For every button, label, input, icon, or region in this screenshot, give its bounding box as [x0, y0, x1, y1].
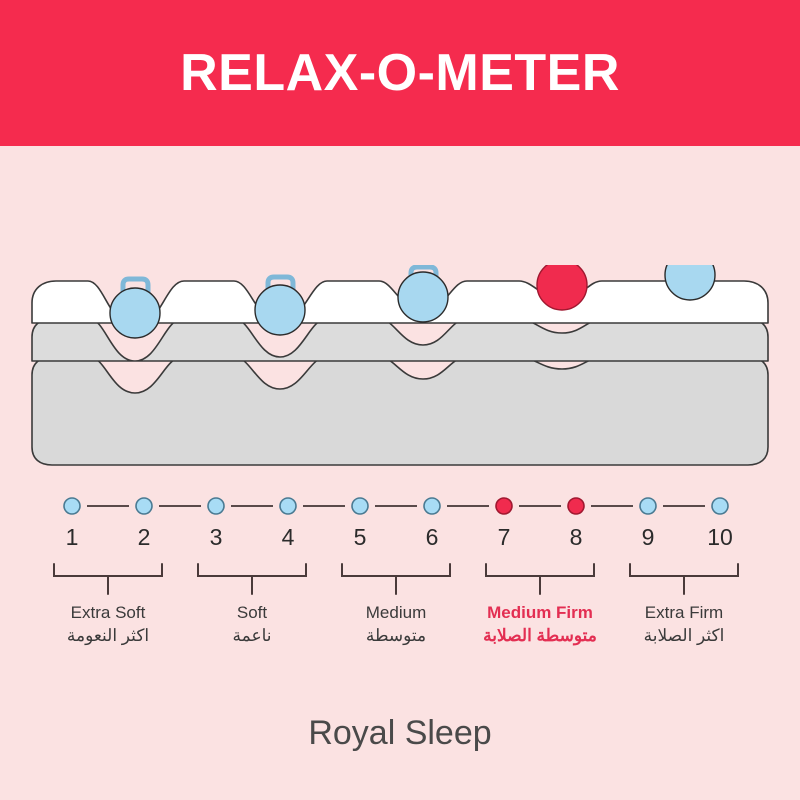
scale-dot-1[interactable] — [64, 498, 80, 514]
mattress-core-layer — [32, 357, 768, 465]
kettlebell-weight-4 — [537, 265, 587, 310]
kettlebell-body-4 — [537, 265, 587, 310]
scale-dot-7[interactable] — [496, 498, 512, 514]
category-extra-firm[interactable]: Extra Firmاكثر الصلابة — [594, 602, 774, 648]
scale-dot-8[interactable] — [568, 498, 584, 514]
category-brackets — [54, 564, 738, 594]
scale-dot-2[interactable] — [136, 498, 152, 514]
firmness-scale: 12345678910 Extra Softاكثر النعومةSoftنا… — [0, 480, 800, 680]
scale-number-10: 10 — [700, 524, 740, 551]
kettlebell-body-1 — [110, 288, 160, 338]
page-title: RELAX-O-METER — [180, 47, 620, 99]
kettlebell-weight-1 — [110, 279, 160, 338]
scale-dot-10[interactable] — [712, 498, 728, 514]
scale-dot-9[interactable] — [640, 498, 656, 514]
scale-dot-4[interactable] — [280, 498, 296, 514]
scale-dot-5[interactable] — [352, 498, 368, 514]
relax-o-meter-infographic: RELAX-O-METER — [0, 0, 800, 800]
scale-number-2: 2 — [124, 524, 164, 551]
scale-number-1: 1 — [52, 524, 92, 551]
scale-number-5: 5 — [340, 524, 380, 551]
scale-number-3: 3 — [196, 524, 236, 551]
scale-number-4: 4 — [268, 524, 308, 551]
scale-number-8: 8 — [556, 524, 596, 551]
header-banner: RELAX-O-METER — [0, 0, 800, 146]
scale-number-6: 6 — [412, 524, 452, 551]
scale-graphics — [0, 480, 800, 680]
brand-name: Royal Sleep — [0, 714, 800, 753]
kettlebell-weight-3 — [398, 267, 448, 322]
scale-number-7: 7 — [484, 524, 524, 551]
bracket-extra-firm — [630, 564, 738, 594]
scale-number-9: 9 — [628, 524, 668, 551]
scale-dot-3[interactable] — [208, 498, 224, 514]
category-label-en: Extra Firm — [594, 602, 774, 624]
bracket-medium-firm — [486, 564, 594, 594]
scale-dot-6[interactable] — [424, 498, 440, 514]
bracket-extra-soft — [54, 564, 162, 594]
category-label-ar: اكثر الصلابة — [594, 624, 774, 648]
kettlebell-body-2 — [255, 285, 305, 335]
mattress-illustration — [30, 265, 770, 475]
kettlebell-weight-2 — [255, 277, 305, 335]
bracket-medium — [342, 564, 450, 594]
kettlebell-body-3 — [398, 272, 448, 322]
bracket-soft — [198, 564, 306, 594]
